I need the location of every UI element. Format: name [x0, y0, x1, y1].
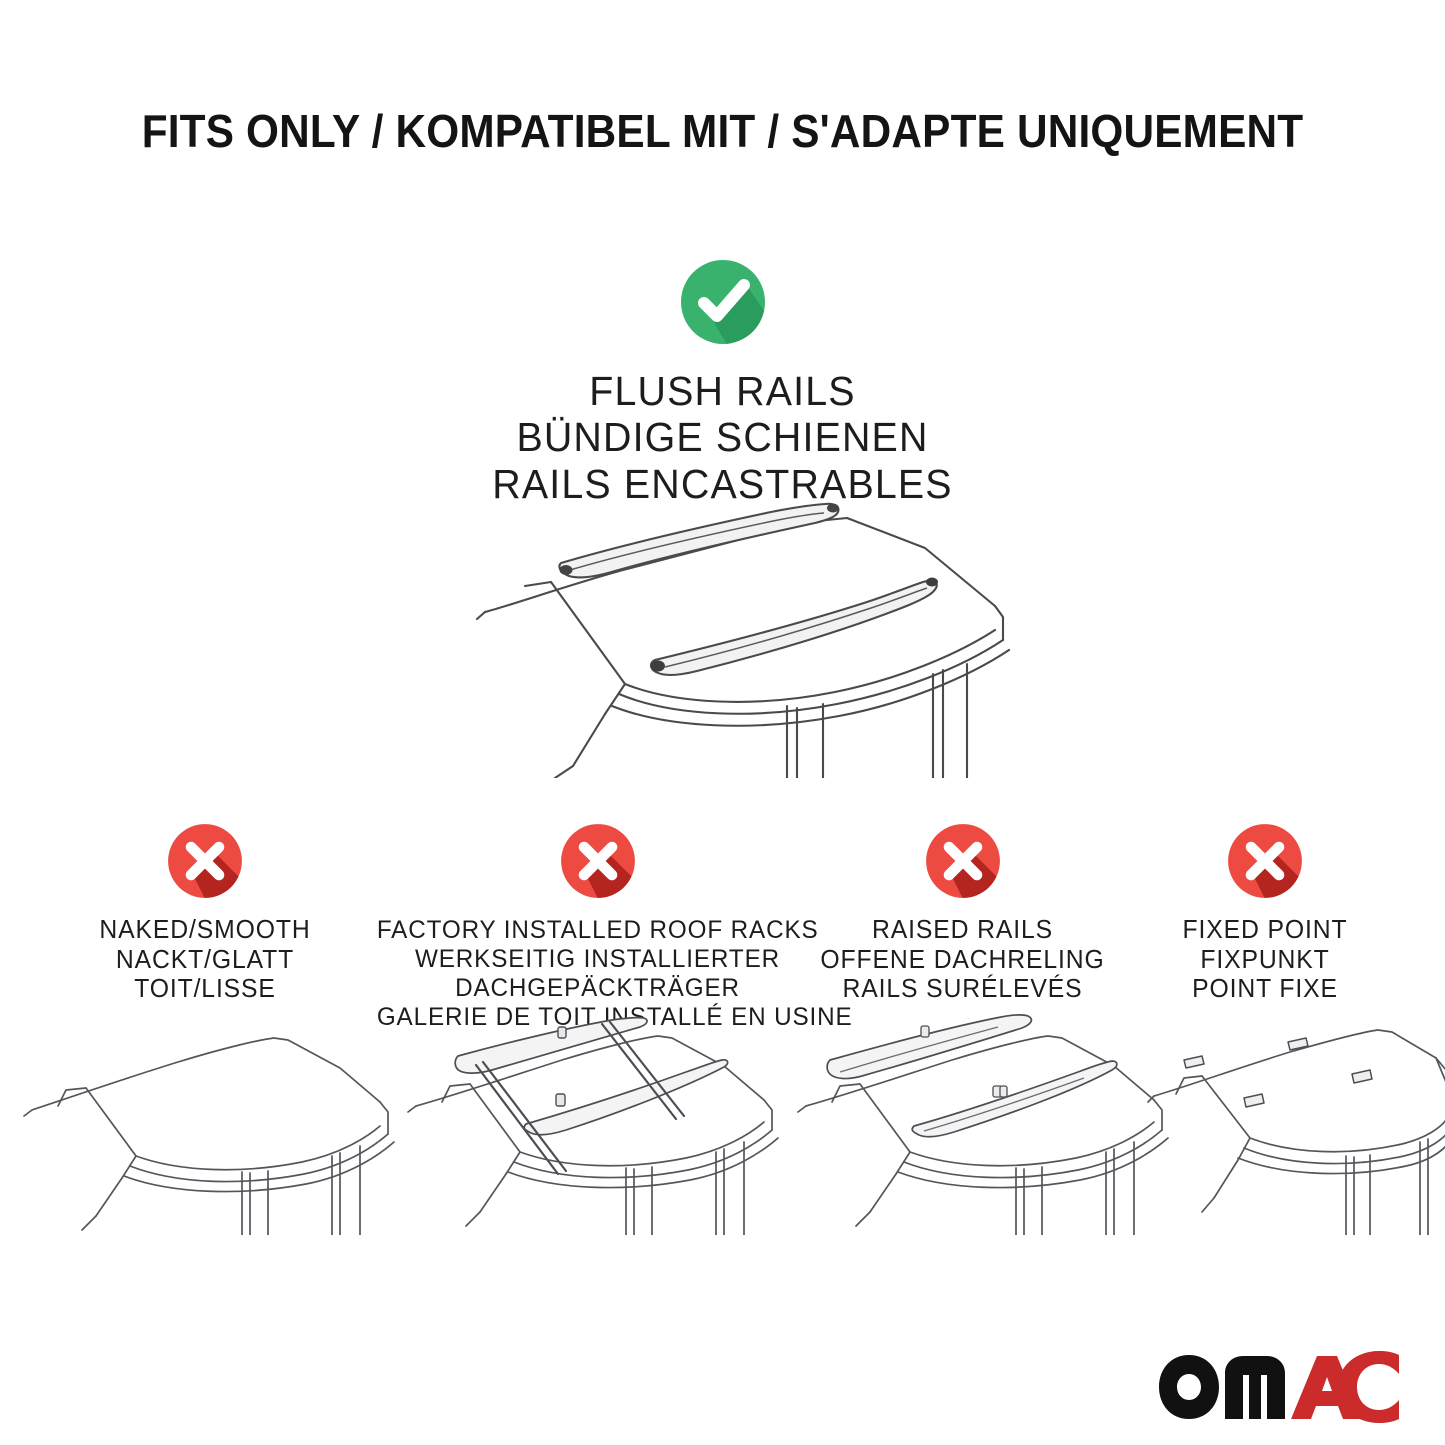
compatible-label-de: BÜNDIGE SCHIENEN [29, 414, 1416, 460]
infographic-canvas: FITS ONLY / KOMPATIBEL MIT / S'ADAPTE UN… [0, 0, 1445, 1445]
omac-logo [1155, 1351, 1403, 1423]
car-roof-with-fixed-points-illustration [1140, 1010, 1445, 1235]
car-roof-with-factory-crossbars-illustration [398, 1010, 788, 1235]
incompatible-label-en: RAISED RAILS [819, 916, 1105, 946]
car-roof-with-raised-rails-illustration [788, 1010, 1178, 1235]
incompatible-item-raised-rails: RAISED RAILS OFFENE DACHRELING RAILS SUR… [815, 820, 1110, 1005]
incompatible-label-de: OFFENE DACHRELING [819, 946, 1105, 976]
incompatible-item-fixed-point: FIXED POINT FIXPUNKT POINT FIXE [1120, 820, 1410, 1005]
incompatible-label-group: FIXED POINT FIXPUNKT POINT FIXE [1124, 916, 1405, 1005]
compatible-section: FLUSH RAILS BÜNDIGE SCHIENEN RAILS ENCAS… [0, 252, 1445, 507]
incompatible-label-fr: TOIT/LISSE [35, 975, 375, 1005]
incompatible-label-en: NAKED/SMOOTH [35, 916, 375, 946]
incompatible-label-de: FIXPUNKT [1124, 946, 1405, 976]
red-x-circle-icon [164, 820, 246, 902]
page-title: FITS ONLY / KOMPATIBEL MIT / S'ADAPTE UN… [58, 104, 1387, 158]
incompatible-item-naked-smooth: NAKED/SMOOTH NACKT/GLATT TOIT/LISSE [30, 820, 380, 1005]
incompatible-label-de-1: WERKSEITIG INSTALLIERTER [377, 945, 818, 974]
red-x-circle-icon [1224, 820, 1306, 902]
incompatible-label-group: RAISED RAILS OFFENE DACHRELING RAILS SUR… [819, 916, 1105, 1005]
incompatible-label-en: FACTORY INSTALLED ROOF RACKS [377, 916, 818, 945]
green-check-circle-icon [673, 252, 773, 352]
incompatible-illustrations-row [0, 1010, 1445, 1240]
incompatible-item-factory-installed-roof-racks: FACTORY INSTALLED ROOF RACKS WERKSEITIG … [370, 820, 825, 1032]
incompatible-label-de: NACKT/GLATT [35, 946, 375, 976]
car-roof-bare-illustration [10, 1010, 400, 1235]
red-x-circle-icon [922, 820, 1004, 902]
red-x-circle-icon [557, 820, 639, 902]
compatible-label-en: FLUSH RAILS [29, 368, 1416, 414]
car-roof-with-flush-rails-illustration [455, 478, 1015, 778]
incompatible-label-group: NAKED/SMOOTH NACKT/GLATT TOIT/LISSE [35, 916, 375, 1005]
incompatible-label-en: FIXED POINT [1124, 916, 1405, 946]
incompatible-label-de-2: DACHGEPÄCKTRÄGER [377, 974, 818, 1003]
incompatible-label-fr: POINT FIXE [1124, 975, 1405, 1005]
incompatible-label-fr: RAILS SURÉLEVÉS [819, 975, 1105, 1005]
